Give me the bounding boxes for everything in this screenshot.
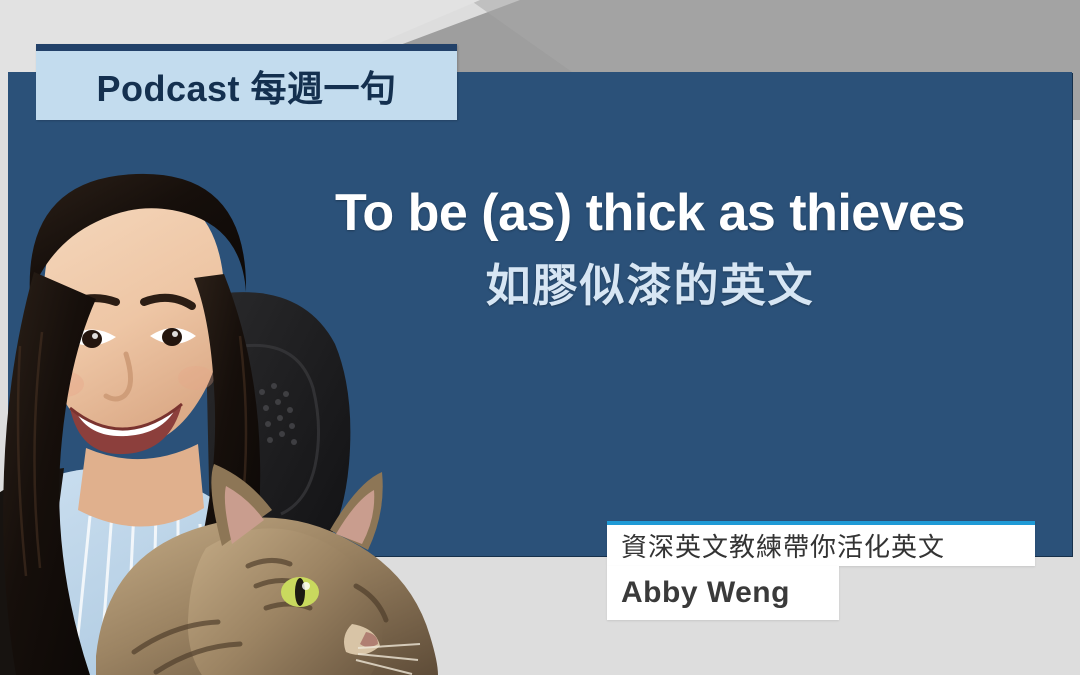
- podcast-badge: Podcast 每週一句: [36, 44, 457, 120]
- caption-tagline-box: 資深英文教練帶你活化英文: [607, 521, 1035, 566]
- caption-tagline-text: 資深英文教練帶你活化英文: [607, 527, 945, 564]
- caption-presenter-name: Abby Weng: [607, 576, 790, 610]
- presenter-photo: [0, 96, 470, 675]
- podcast-badge-label: Podcast 每週一句: [96, 60, 396, 112]
- caption-presenter-box: Abby Weng: [607, 566, 839, 620]
- slide-canvas: To be (as) thick as thieves 如膠似漆的英文 Podc…: [0, 0, 1080, 675]
- person-with-cat-illustration: [0, 96, 470, 675]
